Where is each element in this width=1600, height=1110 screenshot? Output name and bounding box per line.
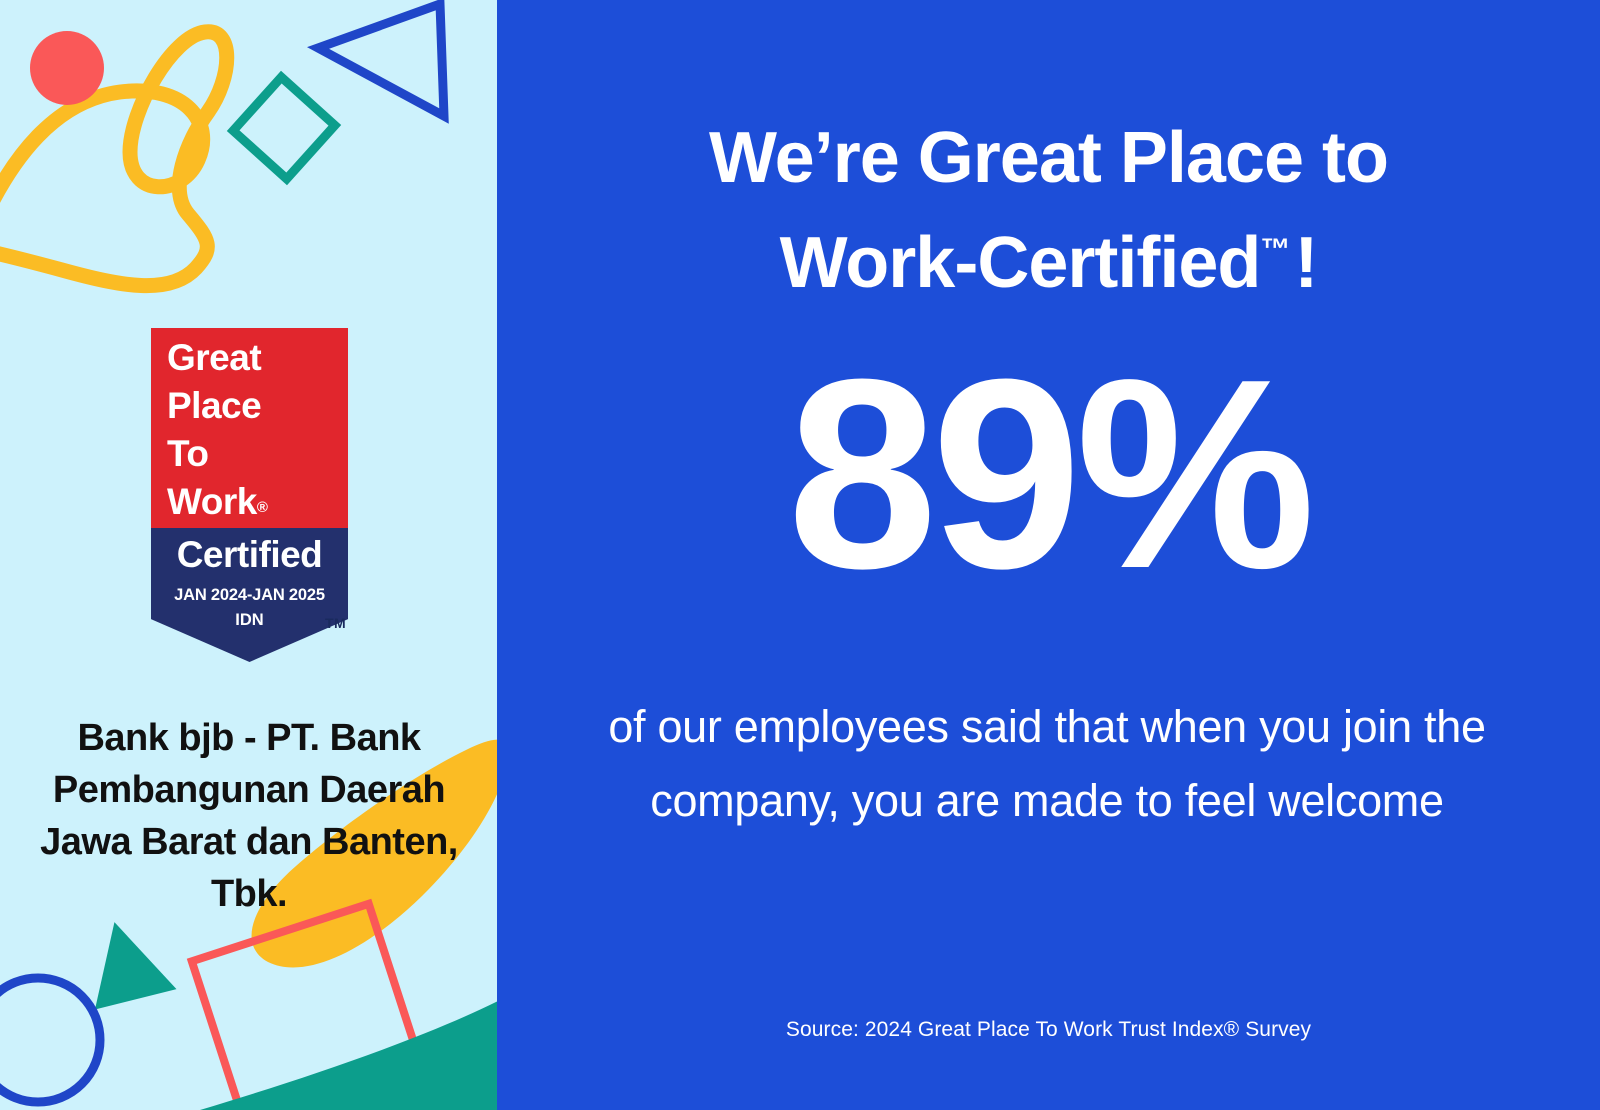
badge-date-range: JAN 2024-JAN 2025 bbox=[151, 586, 348, 605]
left-panel: Great Place To Work® Certified JAN 2024-… bbox=[0, 0, 497, 1110]
badge-certified-label: Certified bbox=[151, 534, 348, 576]
badge-line-to: To bbox=[167, 430, 268, 478]
yellow-squiggle-shape bbox=[0, 32, 227, 286]
headline: We’re Great Place to Work-Certified™! bbox=[537, 112, 1560, 309]
badge-line-place: Place bbox=[167, 382, 268, 430]
headline-line-1: We’re Great Place to bbox=[709, 118, 1388, 198]
certification-poster: Great Place To Work® Certified JAN 2024-… bbox=[0, 0, 1600, 1110]
teal-diamond-outline-shape bbox=[233, 77, 335, 179]
blue-triangle-outline-shape bbox=[318, 4, 444, 116]
headline-line-2: Work-Certified bbox=[780, 223, 1261, 303]
blue-circle-outline-shape bbox=[0, 978, 100, 1102]
coral-square-outline-shape bbox=[192, 904, 426, 1110]
badge-wordmark: Great Place To Work® bbox=[167, 334, 268, 532]
red-circle-shape bbox=[30, 31, 104, 105]
teal-curve-shape bbox=[200, 1000, 497, 1110]
registered-trademark-icon: ® bbox=[257, 499, 268, 516]
right-panel: We’re Great Place to Work-Certified™! 89… bbox=[497, 0, 1600, 1110]
trademark-icon: ™ bbox=[1260, 233, 1290, 266]
stat-percentage: 89% bbox=[537, 340, 1560, 610]
badge-trademark-icon: TM bbox=[325, 615, 346, 631]
badge-country-code: IDN bbox=[151, 611, 348, 630]
source-note: Source: 2024 Great Place To Work Trust I… bbox=[537, 1018, 1560, 1042]
badge-line-work: Work® bbox=[167, 478, 268, 532]
teal-triangle-shape bbox=[76, 912, 177, 1010]
body-copy: of our employees said that when you join… bbox=[607, 690, 1487, 838]
headline-exclamation: ! bbox=[1294, 223, 1317, 303]
great-place-to-work-badge: Great Place To Work® Certified JAN 2024-… bbox=[151, 328, 348, 662]
company-name: Bank bjb - PT. Bank Pembangunan Daerah J… bbox=[14, 712, 484, 920]
badge-line-great: Great bbox=[167, 334, 268, 382]
badge-line-work-text: Work bbox=[167, 481, 257, 522]
